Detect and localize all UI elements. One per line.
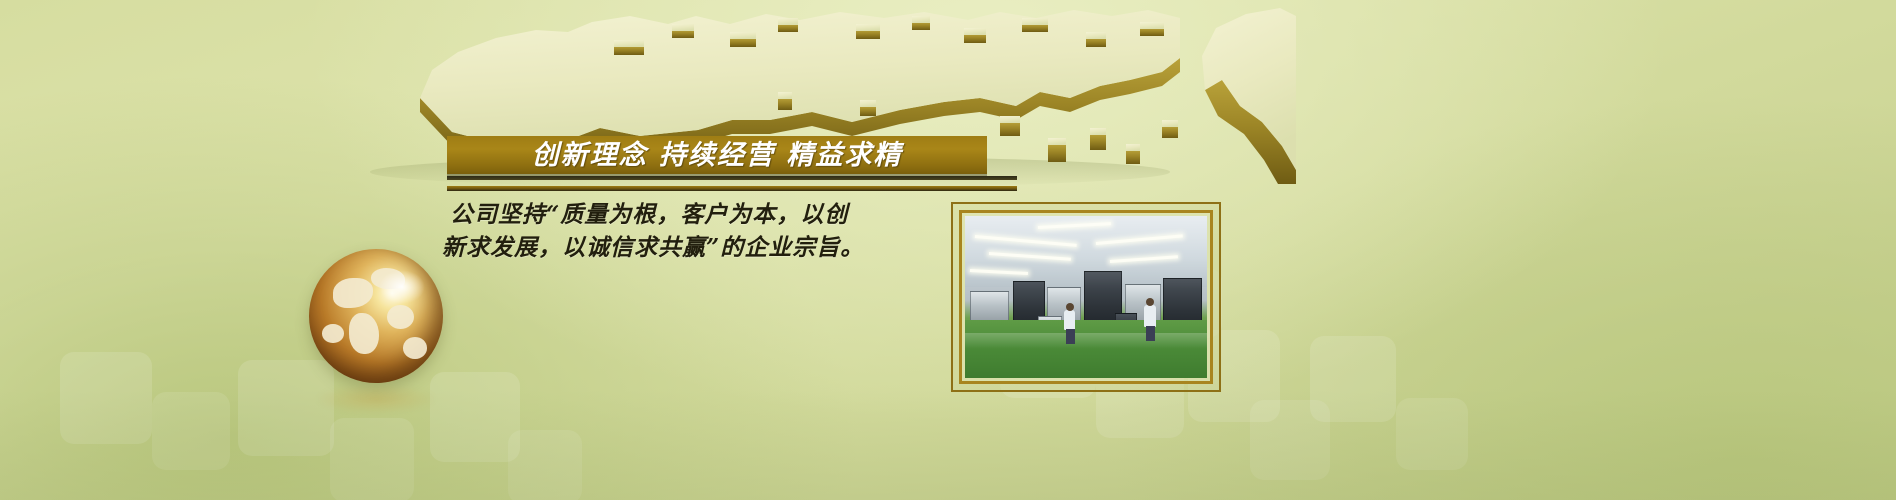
decorative-square xyxy=(430,372,520,462)
photo-worker xyxy=(1064,310,1075,330)
decorative-square xyxy=(330,418,414,500)
factory-production-line-photo xyxy=(965,216,1207,378)
body-line-1: 公司坚持“质量为根，客户为本，以创 xyxy=(450,198,960,231)
photo-floor-highlight xyxy=(965,333,1207,349)
divider-rule-gold xyxy=(447,186,1017,191)
body-copy: 公司坚持“质量为根，客户为本，以创 新求发展，以诚信求共赢”的企业宗旨。 xyxy=(450,198,960,264)
decorative-square xyxy=(508,430,582,500)
headline-text: 创新理念 持续经营 精益求精 xyxy=(532,142,903,169)
globe-highlight xyxy=(379,270,425,304)
decorative-square xyxy=(1396,398,1468,470)
decorative-square xyxy=(152,392,230,470)
golden-globe-icon xyxy=(309,249,443,383)
body-line-2: 新求发展，以诚信求共赢”的企业宗旨。 xyxy=(450,231,960,264)
globe-reflection xyxy=(316,384,436,414)
divider-rule-dark xyxy=(447,176,1017,180)
decorative-square xyxy=(1310,336,1396,422)
photo-frame xyxy=(951,202,1221,392)
decorative-square xyxy=(60,352,152,444)
photo-inner-frame xyxy=(959,210,1213,384)
photo-floor xyxy=(965,320,1207,378)
headline-bar: 创新理念 持续经营 精益求精 xyxy=(447,136,987,174)
promo-banner: 创新理念 持续经营 精益求精 公司坚持“质量为根，客户为本，以创 新求发展，以诚… xyxy=(0,0,1896,500)
decorative-square xyxy=(238,360,334,456)
photo-worker xyxy=(1144,305,1156,327)
